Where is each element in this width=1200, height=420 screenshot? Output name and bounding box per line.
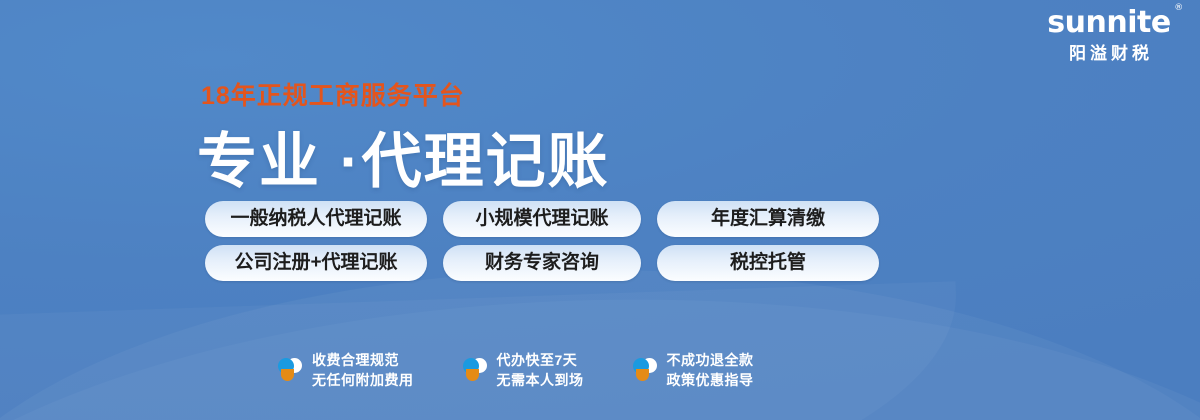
feature-item-pricing: 收费合理规范 无任何附加费用: [277, 350, 414, 391]
brand-logo[interactable]: sunnite ® 阳溢财税: [1034, 8, 1184, 62]
service-tag-small-scale-bookkeeping[interactable]: 小规模代理记账: [443, 201, 641, 237]
service-tag-general-taxpayer-bookkeeping[interactable]: 一般纳税人代理记账: [205, 201, 427, 237]
feature-line-2: 政策优惠指导: [667, 370, 754, 390]
service-tag-tax-control-hosting[interactable]: 税控托管: [657, 245, 879, 281]
feature-line-2: 无需本人到场: [497, 370, 584, 390]
logo-wordmark-text: sunnite: [1047, 5, 1170, 40]
service-tag-company-registration-bookkeeping[interactable]: 公司注册+代理记账: [205, 245, 427, 281]
feature-item-text: 代办快至7天 无需本人到场: [497, 350, 584, 391]
feature-line-1: 代办快至7天: [497, 350, 584, 370]
registered-trademark-icon: ®: [1174, 4, 1183, 13]
circle-badge-icon: [632, 355, 658, 385]
feature-line-1: 不成功退全款: [667, 350, 754, 370]
feature-line-1: 收费合理规范: [312, 350, 414, 370]
promo-banner: sunnite ® 阳溢财税 18年正规工商服务平台 专业 ·代理记账 一般纳税…: [0, 0, 1200, 420]
background-wave-upper: [0, 270, 1200, 420]
feature-item-speed: 代办快至7天 无需本人到场: [462, 350, 584, 391]
eyebrow-tagline: 18年正规工商服务平台: [201, 76, 465, 112]
circle-badge-icon: [277, 355, 303, 385]
service-tag-row: 一般纳税人代理记账 小规模代理记账 年度汇算清缴: [205, 201, 925, 237]
logo-chinese-name: 阳溢财税: [1034, 45, 1184, 62]
feature-line-2: 无任何附加费用: [312, 370, 414, 390]
feature-item-guarantee: 不成功退全款 政策优惠指导: [632, 350, 754, 391]
page-title: 专业 ·代理记账: [197, 113, 610, 200]
service-tag-annual-settlement[interactable]: 年度汇算清缴: [657, 201, 879, 237]
circle-badge-icon: [462, 355, 488, 385]
feature-list: 收费合理规范 无任何附加费用 代办快至7天 无需本人到场 不成功退全款: [277, 350, 754, 391]
service-tag-row: 公司注册+代理记账 财务专家咨询 税控托管: [205, 245, 925, 281]
logo-wordmark: sunnite ®: [1047, 8, 1170, 38]
service-tag-financial-expert-consulting[interactable]: 财务专家咨询: [443, 245, 641, 281]
feature-item-text: 收费合理规范 无任何附加费用: [312, 350, 414, 391]
service-tag-group: 一般纳税人代理记账 小规模代理记账 年度汇算清缴 公司注册+代理记账 财务专家咨…: [205, 201, 925, 289]
feature-item-text: 不成功退全款 政策优惠指导: [667, 350, 754, 391]
